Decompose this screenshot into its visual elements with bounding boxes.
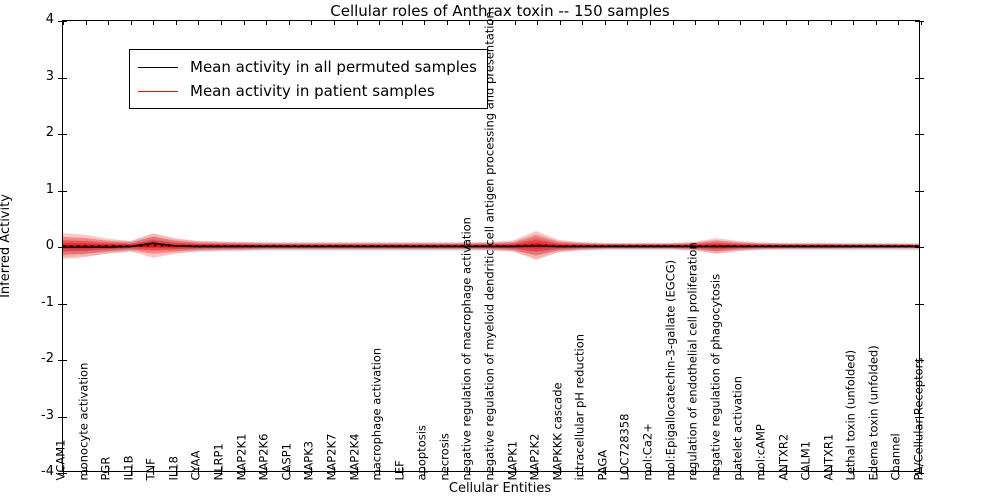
x-tick-label: CALM1 xyxy=(801,441,813,481)
x-tick-mark xyxy=(334,21,335,25)
x-tick-label: mol:Ca2+ xyxy=(643,423,655,480)
x-tick-label: MAPK1 xyxy=(507,441,519,481)
legend-swatch-black xyxy=(138,67,178,68)
x-tick-mark xyxy=(740,21,741,25)
x-tick-label: Lethal toxin (unfolded) xyxy=(846,350,858,481)
y-tick-mark xyxy=(63,304,67,305)
x-tick-label: IL18 xyxy=(168,456,180,480)
x-tick-mark xyxy=(831,21,832,25)
y-tick-mark xyxy=(919,191,924,192)
x-tick-mark xyxy=(673,21,674,25)
y-tick-mark xyxy=(915,78,919,79)
x-tick-mark xyxy=(718,21,719,25)
x-tick-label: Edema toxin (unfolded) xyxy=(868,345,880,480)
x-tick-mark xyxy=(153,21,154,25)
legend-entry-patient: Mean activity in patient samples xyxy=(138,79,477,103)
x-tick-label: MAPK3 xyxy=(304,441,316,481)
x-tick-mark xyxy=(605,21,606,25)
y-tick-mark xyxy=(919,247,924,248)
x-tick-mark xyxy=(582,21,583,25)
x-tick-label: NLRP1 xyxy=(214,443,226,480)
chart-legend: Mean activity in all permuted samples Me… xyxy=(129,49,488,109)
x-tick-mark xyxy=(695,21,696,25)
x-tick-label: LOC728358 xyxy=(620,414,632,481)
x-tick-label: TNF xyxy=(146,458,158,480)
y-tick-mark xyxy=(915,21,919,22)
x-tick-mark xyxy=(921,21,922,25)
legend-entry-permuted: Mean activity in all permuted samples xyxy=(138,55,477,79)
legend-label-patient: Mean activity in patient samples xyxy=(190,82,435,100)
x-tick-mark xyxy=(379,21,380,25)
x-tick-mark xyxy=(808,21,809,25)
x-tick-mark xyxy=(560,21,561,25)
x-tick-label: MAP2K7 xyxy=(326,434,338,481)
x-tick-mark xyxy=(424,21,425,25)
x-tick-label: macrophage activation xyxy=(372,348,384,481)
x-tick-label: ANTXR1 xyxy=(823,434,835,481)
x-tick-mark xyxy=(244,21,245,25)
x-tick-label: monocyte activation xyxy=(78,363,90,481)
x-tick-label: intracellular pH reduction xyxy=(575,334,587,481)
x-tick-mark xyxy=(763,21,764,25)
legend-label-permuted: Mean activity in all permuted samples xyxy=(190,58,477,76)
x-tick-label: negative regulation of macrophage activa… xyxy=(462,217,474,480)
y-axis-title: Inferred Activity xyxy=(0,194,13,298)
x-tick-mark xyxy=(311,21,312,25)
legend-swatch-red xyxy=(138,91,178,92)
x-tick-mark xyxy=(266,21,267,25)
x-tick-label: ANTXR2 xyxy=(778,434,790,481)
y-tick-mark xyxy=(63,78,67,79)
y-tick-mark xyxy=(915,304,919,305)
x-tick-label: MAP2K1 xyxy=(236,434,248,481)
x-tick-mark xyxy=(876,21,877,25)
x-tick-label: platelet activation xyxy=(733,376,745,481)
x-tick-mark xyxy=(469,21,470,25)
x-tick-label: PA/Cellular Receptors xyxy=(914,358,926,481)
y-tick-mark xyxy=(63,417,67,418)
x-tick-label: MAP2K4 xyxy=(349,434,361,481)
x-axis-title: Cellular Entities xyxy=(0,481,1000,496)
x-tick-label: mol:Epigallocatechin-3-gallate (EGCG) xyxy=(665,260,677,481)
x-tick-mark xyxy=(108,21,109,25)
x-tick-label: mol:cAMP xyxy=(755,424,767,480)
y-tick-mark xyxy=(63,191,67,192)
x-tick-label: CYAA xyxy=(191,450,203,480)
x-tick-label: CASP1 xyxy=(281,443,293,480)
x-tick-label: PGR xyxy=(101,457,113,481)
chart-canvas: Cellular roles of Anthrax toxin -- 150 s… xyxy=(0,0,1000,500)
x-tick-mark xyxy=(198,21,199,25)
x-tick-label: apoptosis xyxy=(417,425,429,480)
x-tick-mark xyxy=(447,21,448,25)
x-tick-mark xyxy=(853,21,854,25)
y-tick-mark xyxy=(919,134,924,135)
x-tick-label: PAGA xyxy=(597,450,609,481)
x-tick-label: LEF xyxy=(394,460,406,480)
y-tick-mark xyxy=(915,191,919,192)
x-tick-mark xyxy=(357,21,358,25)
y-tick-mark xyxy=(915,247,919,248)
x-tick-label: Channel xyxy=(891,433,903,480)
x-tick-mark xyxy=(86,21,87,25)
x-tick-mark xyxy=(176,21,177,25)
x-tick-label: negative regulation of phagocytosis xyxy=(710,274,722,481)
x-tick-mark xyxy=(537,21,538,25)
x-tick-mark xyxy=(786,21,787,25)
x-tick-label: necrosis xyxy=(439,433,451,480)
x-tick-label: MAP2K6 xyxy=(259,434,271,481)
x-tick-mark xyxy=(627,21,628,25)
x-tick-mark xyxy=(221,21,222,25)
x-tick-mark xyxy=(131,21,132,25)
x-tick-label: MAPKKK cascade xyxy=(552,382,564,480)
x-tick-mark xyxy=(515,21,516,25)
chart-title: Cellular roles of Anthrax toxin -- 150 s… xyxy=(0,2,1000,20)
y-tick-mark xyxy=(63,247,67,248)
y-tick-mark xyxy=(919,304,924,305)
x-tick-label: regulation of endothelial cell prolifera… xyxy=(688,242,700,480)
x-tick-mark xyxy=(650,21,651,25)
y-tick-mark xyxy=(915,134,919,135)
x-tick-mark xyxy=(63,21,64,25)
x-tick-mark xyxy=(898,21,899,25)
x-tick-label: MAP2K2 xyxy=(530,434,542,481)
plot-area: VCAM1monocyte activationPGRIL1BTNFIL18CY… xyxy=(62,20,920,472)
y-tick-mark xyxy=(63,134,67,135)
x-tick-label: IL1B xyxy=(123,455,135,480)
y-tick-mark xyxy=(63,360,67,361)
x-tick-mark xyxy=(402,21,403,25)
x-tick-mark xyxy=(289,21,290,25)
y-axis-title-wrap: Inferred Activity xyxy=(0,0,62,492)
y-tick-mark xyxy=(919,78,924,79)
